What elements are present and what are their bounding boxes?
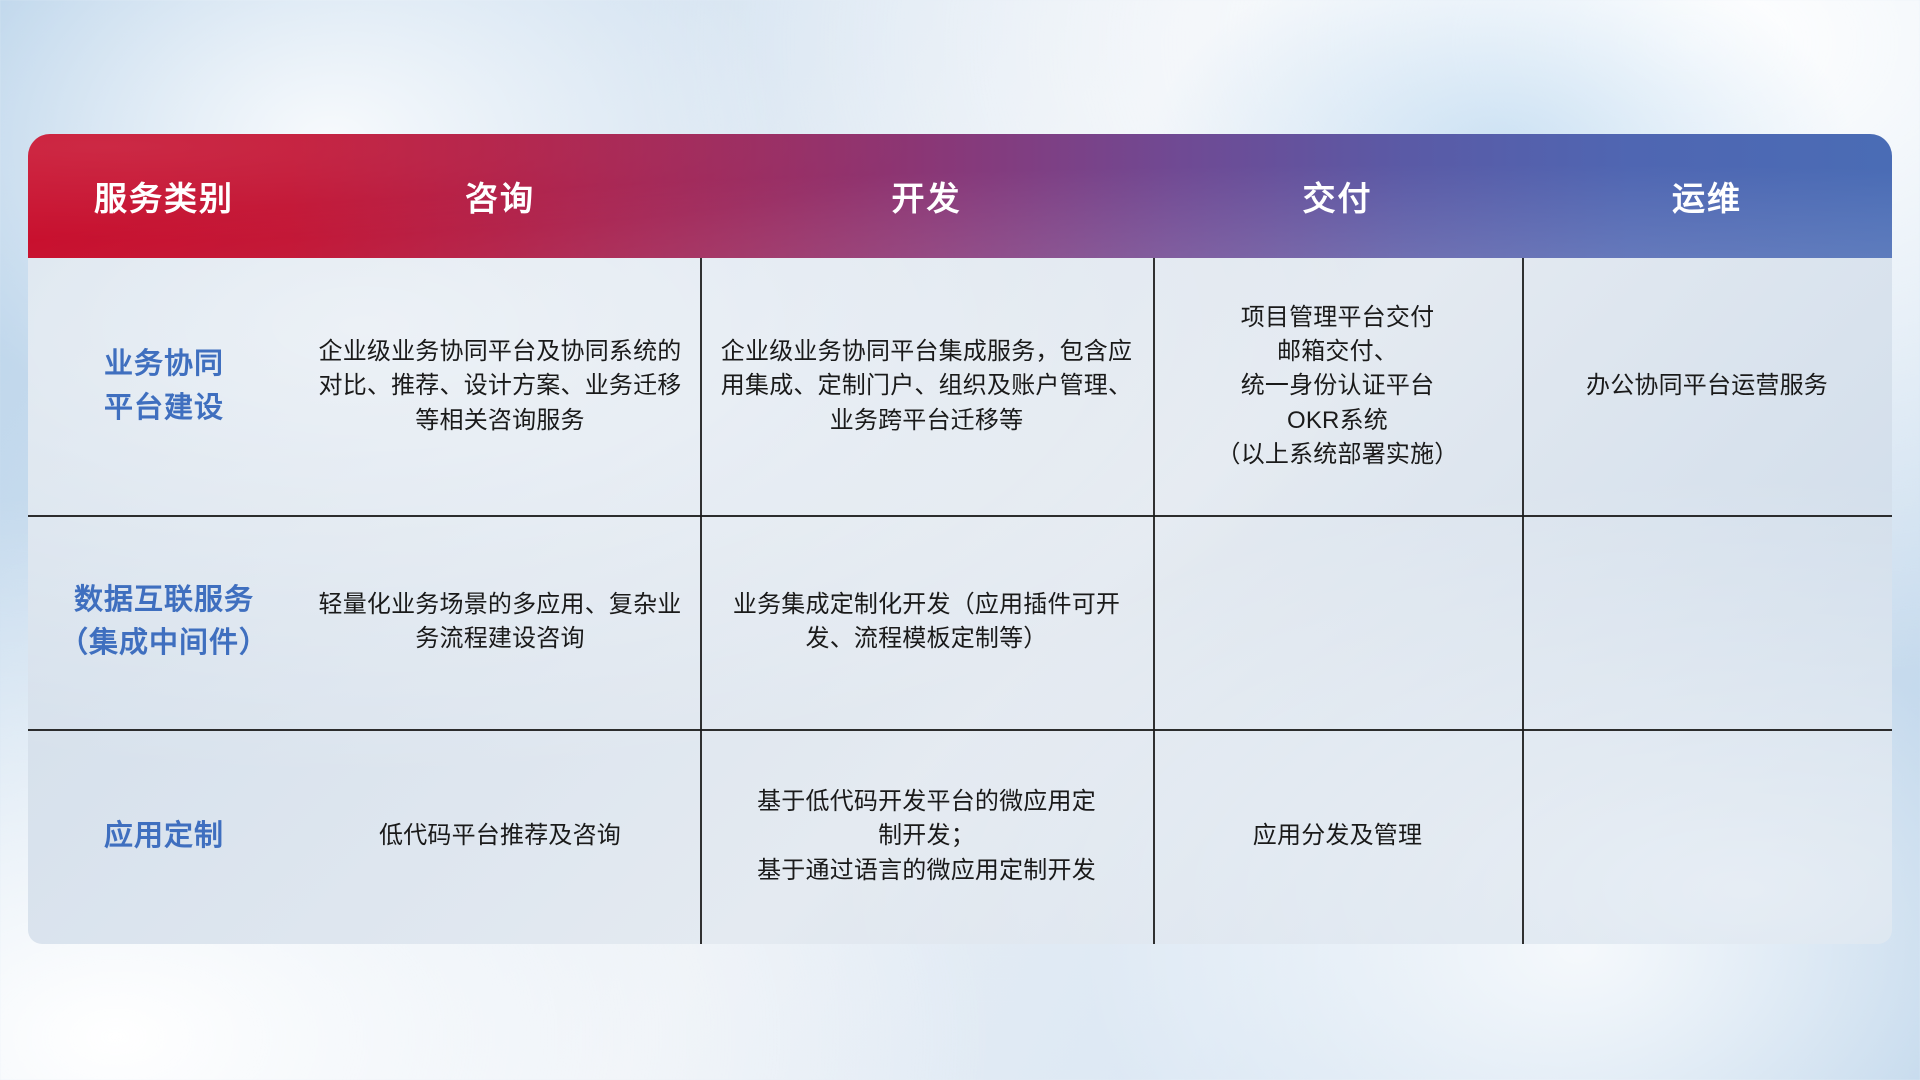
delivery-line-2: 邮箱交付、 <box>1217 335 1459 369</box>
column-divider-consulting-development <box>700 258 702 944</box>
table-header-row: 服务类别 咨询 开发 交付 运维 <box>28 134 1892 258</box>
category-line-1: 业务协同 <box>104 343 224 387</box>
category-line-2: （集成中间件） <box>59 622 269 666</box>
service-matrix-table: 服务类别 咨询 开发 交付 运维 业务协同 平台建设 企业级业务协同平台及协同系… <box>28 134 1892 944</box>
cell-operations-row-1: 办公协同平台运营服务 <box>1522 258 1892 515</box>
column-header-delivery: 交付 <box>1153 172 1522 220</box>
column-divider-delivery-operations <box>1522 258 1524 944</box>
cell-category-row-3: 应用定制 <box>28 729 300 944</box>
cell-consulting-row-1: 企业级业务协同平台及协同系统的对比、推荐、设计方案、业务迁移等相关咨询服务 <box>300 258 700 515</box>
cell-operations-row-2 <box>1522 515 1892 729</box>
table-row: 数据互联服务 （集成中间件） 轻量化业务场景的多应用、复杂业务流程建设咨询 业务… <box>28 515 1892 729</box>
cell-development-row-3: 基于低代码开发平台的微应用定 制开发； 基于通过语言的微应用定制开发 <box>700 729 1153 944</box>
cell-operations-row-3 <box>1522 729 1892 944</box>
cell-consulting-row-2: 轻量化业务场景的多应用、复杂业务流程建设咨询 <box>300 515 700 729</box>
cell-consulting-row-3: 低代码平台推荐及咨询 <box>300 729 700 944</box>
table-body: 业务协同 平台建设 企业级业务协同平台及协同系统的对比、推荐、设计方案、业务迁移… <box>28 258 1892 944</box>
cell-delivery-row-2 <box>1153 515 1522 729</box>
delivery-line-3: 统一身份认证平台 <box>1217 369 1459 403</box>
delivery-line-5: （以上系统部署实施） <box>1217 438 1459 472</box>
cell-category-row-2: 数据互联服务 （集成中间件） <box>28 515 300 729</box>
column-header-development: 开发 <box>700 172 1153 220</box>
delivery-line-4: OKR系统 <box>1217 404 1459 438</box>
cell-delivery-row-1: 项目管理平台交付 邮箱交付、 统一身份认证平台 OKR系统 （以上系统部署实施） <box>1153 258 1522 515</box>
column-header-operations: 运维 <box>1522 172 1892 220</box>
table-row: 应用定制 低代码平台推荐及咨询 基于低代码开发平台的微应用定 制开发； 基于通过… <box>28 729 1892 944</box>
development-line-1: 基于低代码开发平台的微应用定 <box>757 785 1096 819</box>
cell-delivery-row-3: 应用分发及管理 <box>1153 729 1522 944</box>
category-line-1: 应用定制 <box>104 815 224 859</box>
table-row: 业务协同 平台建设 企业级业务协同平台及协同系统的对比、推荐、设计方案、业务迁移… <box>28 258 1892 515</box>
cell-development-row-2: 业务集成定制化开发（应用插件可开发、流程模板定制等） <box>700 515 1153 729</box>
cell-category-row-1: 业务协同 平台建设 <box>28 258 300 515</box>
category-line-2: 平台建设 <box>104 387 224 431</box>
delivery-line-1: 项目管理平台交付 <box>1217 301 1459 335</box>
column-header-consulting: 咨询 <box>300 172 700 220</box>
category-line-1: 数据互联服务 <box>59 579 269 623</box>
development-line-2: 制开发； <box>757 819 1096 853</box>
development-line-3: 基于通过语言的微应用定制开发 <box>757 854 1096 888</box>
column-header-category: 服务类别 <box>28 172 300 220</box>
column-divider-development-delivery <box>1153 258 1155 944</box>
cell-development-row-1: 企业级业务协同平台集成服务，包含应用集成、定制门户、组织及账户管理、业务跨平台迁… <box>700 258 1153 515</box>
